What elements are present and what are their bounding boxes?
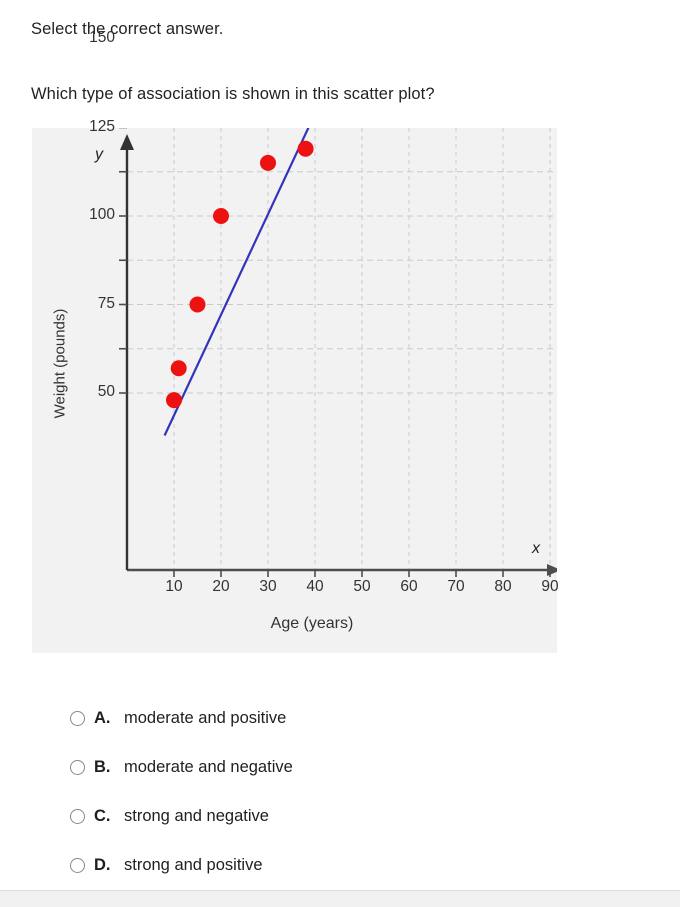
- answer-option-d[interactable]: D.strong and positive: [70, 841, 630, 890]
- answer-options: A.moderate and positiveB.moderate and ne…: [70, 694, 630, 890]
- question-text: Which type of association is shown in th…: [31, 85, 435, 104]
- x-tick-label: 50: [345, 578, 379, 596]
- y-tick-label: 75: [81, 295, 115, 313]
- option-label: strong and negative: [124, 807, 630, 826]
- radio-button[interactable]: [70, 711, 85, 726]
- y-tick-label: 50: [81, 383, 115, 401]
- option-letter: D.: [94, 856, 124, 875]
- gridlines: [127, 128, 557, 570]
- y-tick-label: 125: [81, 118, 115, 136]
- x-tick-label: 10: [157, 578, 191, 596]
- x-tick-label: 70: [439, 578, 473, 596]
- x-tick-label: 40: [298, 578, 332, 596]
- axes: [120, 134, 557, 576]
- x-tick-label: 90: [533, 578, 567, 596]
- x-tick-label: 30: [251, 578, 285, 596]
- option-label: strong and positive: [124, 856, 630, 875]
- x-tick-label: 80: [486, 578, 520, 596]
- answer-option-a[interactable]: A.moderate and positive: [70, 694, 630, 743]
- question-page: Select the correct answer. Which type of…: [0, 0, 680, 906]
- answer-option-b[interactable]: B.moderate and negative: [70, 743, 630, 792]
- option-letter: C.: [94, 807, 124, 826]
- option-letter: A.: [94, 709, 124, 728]
- radio-button[interactable]: [70, 760, 85, 775]
- tick-marks: [119, 128, 550, 577]
- footer-bar: [0, 890, 680, 907]
- option-label: moderate and positive: [124, 709, 630, 728]
- radio-button[interactable]: [70, 858, 85, 873]
- y-tick-label: 100: [81, 206, 115, 224]
- radio-button[interactable]: [70, 809, 85, 824]
- answer-option-c[interactable]: C.strong and negative: [70, 792, 630, 841]
- x-tick-label: 20: [204, 578, 238, 596]
- option-letter: B.: [94, 758, 124, 777]
- instruction-text: Select the correct answer.: [31, 20, 223, 39]
- x-tick-label: 60: [392, 578, 426, 596]
- scatter-plot-panel: Weight (pounds) Age (years) y x 50751001…: [32, 128, 557, 653]
- option-label: moderate and negative: [124, 758, 630, 777]
- y-tick-label: 150: [81, 29, 115, 47]
- data-points: [166, 128, 361, 408]
